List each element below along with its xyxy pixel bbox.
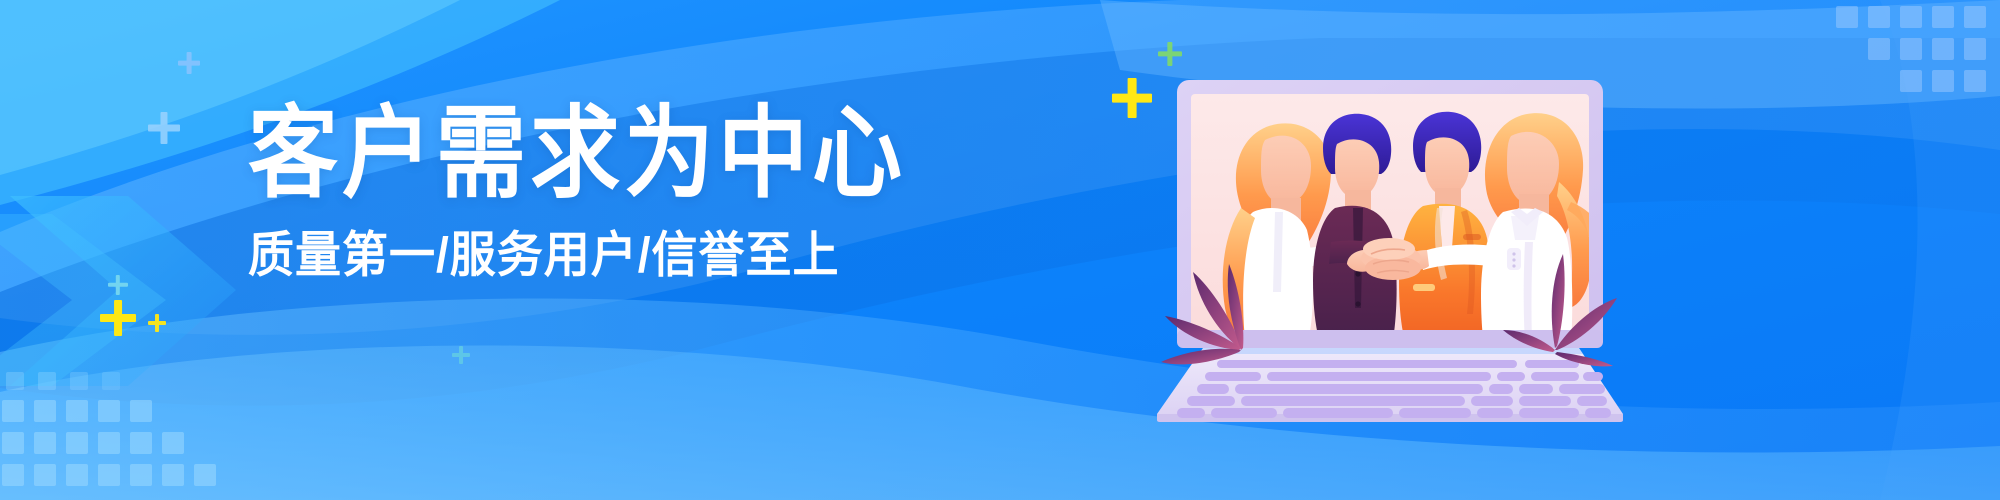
- stacked-hands: [1361, 238, 1421, 280]
- dot-grid-top-right: [1836, 6, 1986, 92]
- plus-white-mid-left: [148, 112, 180, 144]
- plus-cyan-bottom-mid: [452, 346, 470, 364]
- plus-green-near-laptop: [1158, 42, 1182, 66]
- banner-subtitle: 质量第一/服务用户/信誉至上: [248, 196, 908, 281]
- laptop-with-team-illustration: [1155, 62, 1625, 422]
- page-title: 客户需求为中心: [248, 104, 908, 207]
- chevron-left-inner: [0, 214, 166, 386]
- plus-yellow-near-laptop: [1112, 78, 1152, 118]
- plus-cyan-medium-bottom-left: [108, 275, 128, 295]
- promo-banner: 客户需求为中心 质量第一/服务用户/信誉至上: [0, 0, 2000, 500]
- plus-yellow-large-bottom-left: [100, 300, 136, 336]
- dot-grid-bottom-left: [2, 372, 216, 486]
- banner-copy: 客户需求为中心 质量第一/服务用户/信誉至上: [248, 104, 908, 276]
- plus-white-top-left: [178, 52, 200, 74]
- plus-cyan-small-bottom-left: [148, 314, 166, 332]
